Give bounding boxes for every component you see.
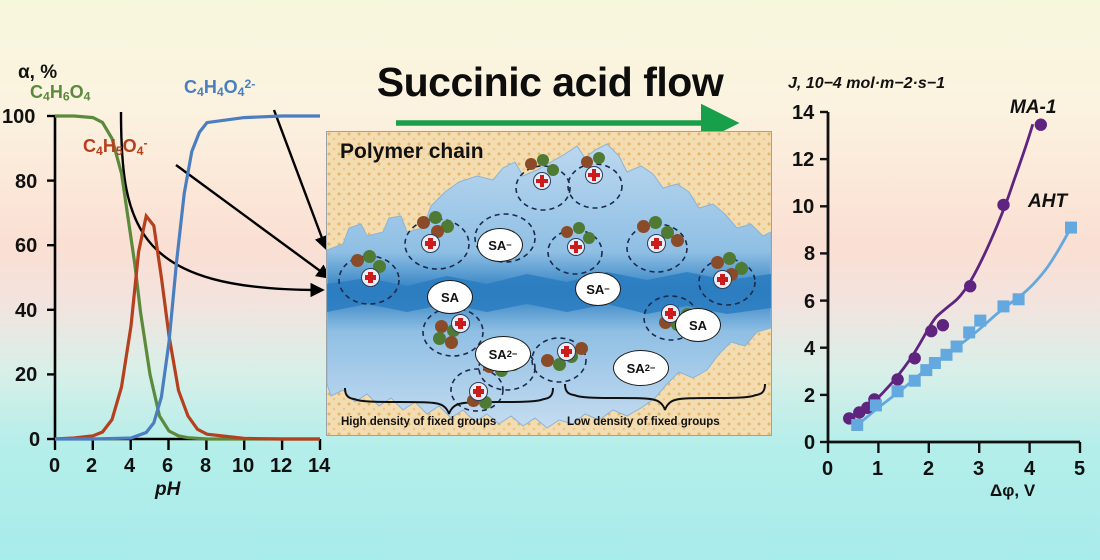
polymer-membrane-diagram: Polymer chain [326,131,772,436]
fixed-positive-group [361,268,380,287]
sa-bubble-monoanion-right: SA− [575,272,621,306]
data-point [909,352,921,364]
data-point [851,419,863,431]
flux-x-tick-1: 1 [872,459,883,479]
y-tick-0: 0 [29,430,40,450]
data-point [964,280,976,292]
flux-y-tick-0: 0 [804,433,815,453]
y-tick-100: 100 [2,107,35,127]
x-tick-10: 10 [232,456,254,476]
flux-x-tick-2: 2 [923,459,934,479]
flux-y-tick-2: 2 [804,386,815,406]
series-line-ma1 [849,124,1033,418]
legend-label-ma1: MA-1 [1010,98,1056,117]
x-tick-8: 8 [200,456,211,476]
flux-chart: 14 12 10 8 6 4 2 0 0 1 2 3 4 5 J, 10−4 m… [780,70,1100,500]
speciation-x-axis-label: pH [155,480,180,499]
x-tick-6: 6 [162,456,173,476]
speciation-chart: 100 80 60 40 20 0 0 2 4 6 8 10 12 14 α, … [0,60,340,500]
label-c4h4o4: C4H4O42- [184,78,255,98]
label-c4h6o4: C4H6O4 [30,83,90,103]
flux-y-tick-8: 8 [804,244,815,264]
x-ticks [55,439,320,450]
sa-bubble-monoanion-left: SA− [477,228,523,262]
data-point [1065,222,1077,234]
data-point [870,399,882,411]
data-point [951,341,963,353]
fixed-positive-group [533,172,551,190]
data-point [937,319,949,331]
y-tick-60: 60 [15,236,37,256]
sa-bubble-neutral-right: SA [675,308,721,342]
series-markers-ma1 [843,119,1047,425]
x-tick-2: 2 [86,456,97,476]
y-tick-80: 80 [15,172,37,192]
flux-y-tick-4: 4 [804,339,815,359]
flux-y-tick-14: 14 [792,103,814,123]
fixed-positive-group [421,234,440,253]
flux-y-tick-10: 10 [792,197,814,217]
x-ticks [828,442,1080,453]
flux-x-axis-label: Δφ, V [990,482,1035,499]
series-markers-aht [851,222,1077,431]
label-c4h5o4: C4H5O4- [83,137,148,157]
flux-plot [780,70,1100,500]
data-point [929,357,941,369]
data-point [1013,293,1025,305]
data-point [963,326,975,338]
x-tick-14: 14 [308,456,330,476]
flux-x-tick-4: 4 [1024,459,1035,479]
speciation-plot [0,60,340,500]
data-point [998,300,1010,312]
sa-bubble-neutral-left: SA [427,280,473,314]
legend-label-aht: AHT [1028,192,1067,211]
speciation-y-axis-label: α, % [18,63,57,82]
sa-bubble-dianion-right: SA2− [613,350,669,386]
flux-x-tick-3: 3 [973,459,984,479]
flux-x-tick-0: 0 [822,459,833,479]
curve-c4h5o4 [55,216,320,439]
data-point [909,375,921,387]
flux-y-tick-12: 12 [792,150,814,170]
sa-bubble-dianion-left: SA2− [475,336,531,372]
flux-y-tick-6: 6 [804,292,815,312]
fixed-positive-group [585,166,603,184]
data-point [997,199,1009,211]
series-line-aht [857,227,1071,425]
fixed-positive-group [647,234,666,253]
flux-y-axis-label: J, 10−4 mol·m−2·s−1 [788,76,945,92]
data-point [892,385,904,397]
x-tick-12: 12 [270,456,292,476]
fixed-positive-group [557,342,576,361]
x-tick-4: 4 [124,456,135,476]
data-point [891,373,903,385]
fixed-positive-group [469,382,488,401]
fixed-positive-group [567,238,585,256]
data-point [1035,119,1047,131]
high-density-label: High density of fixed groups [341,416,496,428]
data-point [925,325,937,337]
data-point [974,315,986,327]
y-tick-20: 20 [15,365,37,385]
fixed-positive-group [451,314,470,333]
flux-x-tick-5: 5 [1074,459,1085,479]
curve-c4h4o4 [55,116,320,439]
curve-c4h6o4 [55,116,320,439]
low-density-label: Low density of fixed groups [567,416,720,428]
y-tick-40: 40 [15,301,37,321]
fixed-positive-group [713,270,732,289]
figure-canvas: Succinic acid flow [0,0,1100,560]
x-tick-0: 0 [49,456,60,476]
